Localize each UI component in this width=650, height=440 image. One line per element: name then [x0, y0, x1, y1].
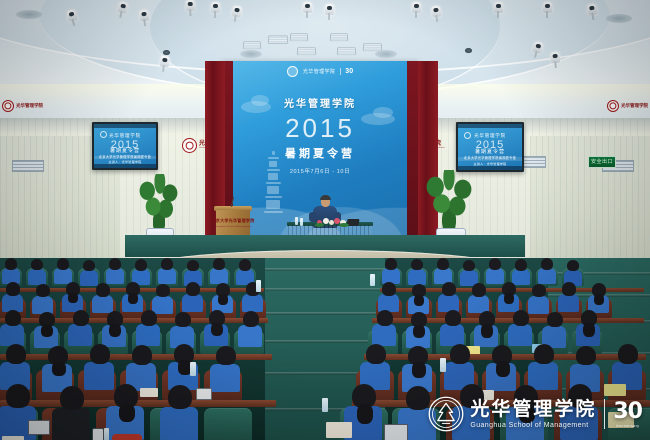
wall-logo-far-right: 光华管理学院	[607, 100, 648, 112]
water-bottle	[322, 398, 328, 412]
wall-logo-far-left-name: 光华管理学院	[16, 104, 43, 109]
podium-name-cn: 北京大学光华管理学院	[212, 218, 255, 224]
watermark-anniversary-number: 30	[613, 401, 642, 423]
ceiling-spotlight	[494, 2, 503, 17]
podium-name-en: Guanghua School of Management	[215, 225, 251, 228]
water-bottle	[300, 218, 303, 226]
university-seal-icon	[2, 100, 14, 112]
projection-right-detail: 北京大学光华管理学院暑期夏令营	[458, 157, 522, 161]
ceiling-spotlight	[325, 4, 334, 19]
university-seal-icon	[607, 100, 619, 112]
watermark-name-en: Guanghua School of Management	[470, 422, 596, 429]
ceiling-spotlight	[543, 2, 552, 17]
projection-right-subtitle: 暑期夏令营	[458, 150, 522, 156]
watermark-anniversary: 30 Anniversary	[613, 401, 642, 428]
backdrop-year: 2015	[233, 115, 407, 141]
auditorium-photo: 安全出口 光华管理学院 Guanghua School of Managemen…	[0, 0, 650, 440]
university-seal-icon	[428, 396, 464, 432]
projection-left-speaker: 主讲人：光华管理学院	[94, 161, 156, 164]
backdrop-subtitle: 暑期夏令营	[233, 145, 407, 161]
projection-left-detail: 北京大学光华管理学院暑期夏令营	[94, 156, 156, 160]
backdrop-anniversary-badge: 30	[340, 68, 353, 75]
wall-logo-far-left: 光华管理学院	[2, 100, 43, 112]
ceiling-spotlight	[185, 0, 195, 15]
ceiling-vent	[337, 47, 357, 55]
water-bottle	[370, 274, 375, 286]
tablet-device	[28, 420, 50, 435]
podium-nameplate: 北京大学光华管理学院 Guanghua School of Management	[219, 218, 247, 228]
projection-screen-left: 光华管理学院 2015 暑期夏令营 北京大学光华管理学院暑期夏令营 主讲人：光华…	[92, 122, 158, 170]
stage-area: 光华管理学院 30 光华管理学院 2015 暑期夏令营 2015年7月6日 - …	[0, 118, 650, 278]
water-bottle	[295, 217, 298, 225]
wall-logo-far-right-name: 光华管理学院	[621, 104, 648, 109]
watermark-name-cn: 光华管理学院	[470, 400, 596, 419]
ceiling-light-oval	[606, 14, 632, 23]
projection-left-subtitle: 暑期夏令营	[94, 149, 156, 155]
notebook	[326, 422, 352, 438]
tablet-device	[384, 424, 408, 440]
backdrop-logo-row: 光华管理学院 30	[233, 66, 407, 77]
backdrop-headline: 光华管理学院	[233, 95, 407, 110]
ceiling-vent	[268, 35, 289, 44]
ceiling-light-oval	[375, 50, 397, 58]
water-bottle	[190, 362, 196, 376]
ceiling-spotlight	[412, 2, 421, 17]
notebook	[2, 436, 24, 440]
ceiling-vent	[243, 41, 262, 49]
ceiling-spotlight	[550, 52, 561, 68]
ceiling-vent	[330, 33, 349, 41]
water-bottle	[256, 280, 261, 292]
ceiling-vent	[290, 33, 309, 41]
ceiling-spotlight	[139, 9, 150, 25]
table-flower-arrangement	[315, 216, 349, 226]
ceiling-spotlight	[159, 56, 170, 72]
backpack	[112, 434, 142, 440]
ceiling-camera-icon	[163, 50, 170, 55]
backdrop-text-block: 光华管理学院 2015 暑期夏令营 2015年7月6日 - 10日	[233, 95, 407, 175]
ceiling-spotlight	[211, 2, 220, 17]
university-seal-icon	[287, 66, 298, 77]
ceiling-camera-icon	[465, 48, 472, 53]
water-bottle	[440, 358, 446, 372]
ceiling-vent	[297, 47, 317, 55]
backdrop-date: 2015年7月6日 - 10日	[233, 167, 407, 175]
ceiling-spotlight	[303, 2, 312, 17]
backdrop-org-name: 光华管理学院	[303, 68, 335, 75]
projection-right-speaker: 主讲人：光华管理学院	[458, 163, 522, 166]
projection-screen-right: 光华管理学院 2015 暑期夏令营 北京大学光华管理学院暑期夏令营 主讲人：光华…	[456, 122, 524, 172]
ceiling-light-oval	[240, 50, 262, 58]
seat-row	[0, 384, 280, 440]
water-bottle	[104, 428, 109, 440]
smartphone-device	[92, 428, 104, 440]
watermark-divider	[604, 399, 605, 429]
watermark-text: 光华管理学院 Guanghua School of Management	[470, 400, 596, 429]
watermark-anniversary-label: Anniversary	[616, 423, 639, 428]
ceiling-light-oval	[16, 10, 42, 19]
watermark: 光华管理学院 Guanghua School of Management 30 …	[428, 396, 642, 432]
